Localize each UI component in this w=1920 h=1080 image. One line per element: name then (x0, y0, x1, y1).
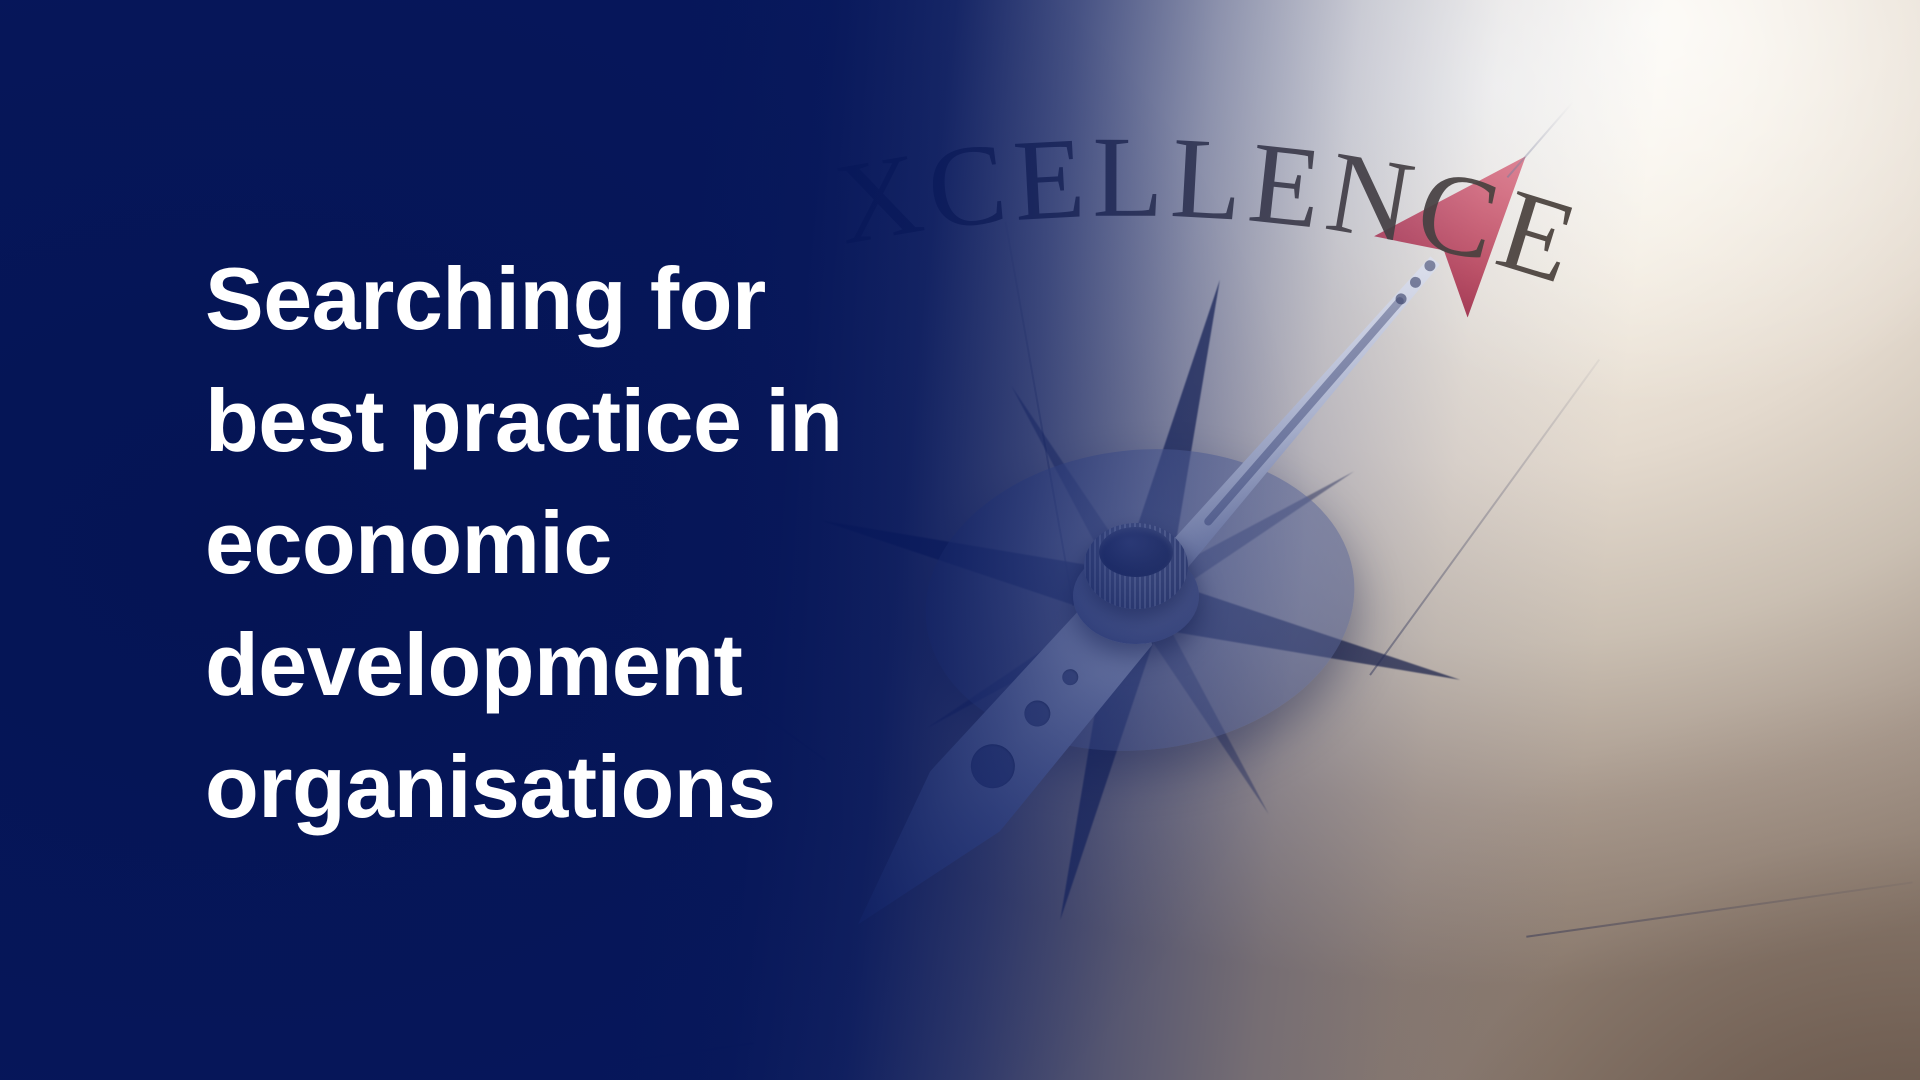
headline-line-2: best practice in (205, 360, 1025, 482)
hero-banner: XCELLENCE Searching for best practice in… (0, 0, 1920, 1080)
headline-line-4: development (205, 604, 1025, 726)
headline-line-1: Searching for (205, 238, 1025, 360)
page-title: Searching for best practice in economic … (205, 238, 1025, 848)
headline-line-3: economic (205, 482, 1025, 604)
headline-line-5: organisations (205, 726, 1025, 848)
